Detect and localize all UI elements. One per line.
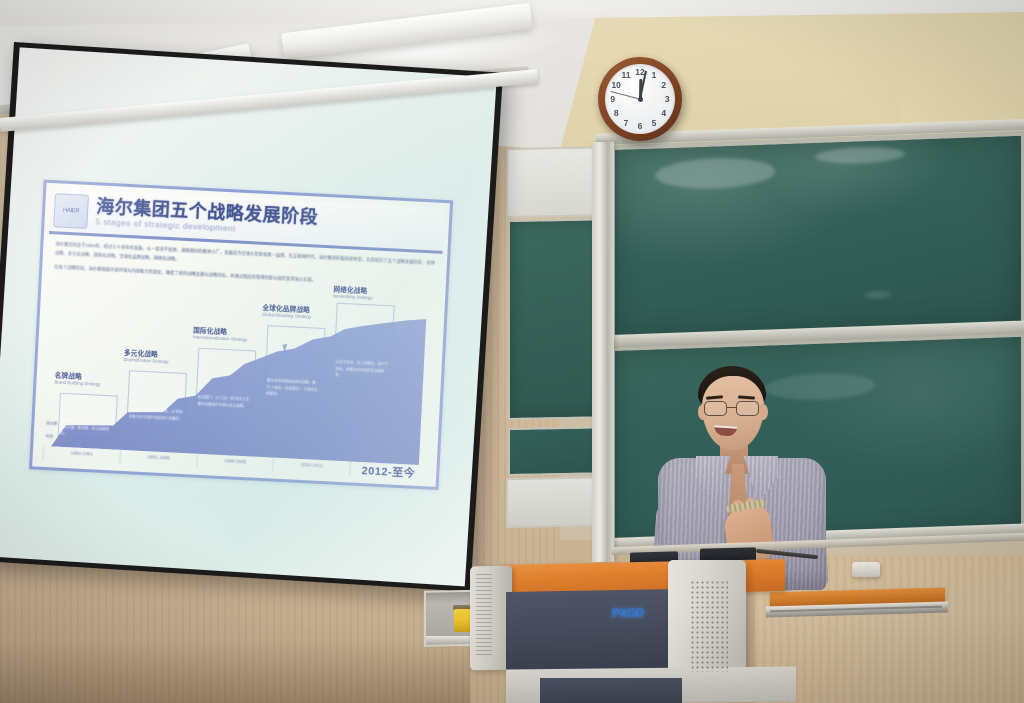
speaker-grille-icon — [690, 580, 728, 672]
stage-desc-4: 整合全球资源创全球化品牌，推行“人单合一双赢模式”，打造自主经营体。 — [266, 377, 321, 400]
glasses-lens-right — [736, 401, 759, 416]
clock-numeral-2: 2 — [658, 81, 670, 90]
stage-5-name-en: Networking Strategy — [333, 294, 373, 301]
wall-fitting — [852, 562, 880, 577]
axis-year-4: 2012-至今 — [349, 461, 426, 479]
stage-desc-1: 以质量立牌，只有一个型号产品，七年只做一款冰箱，树立品牌意识。 — [60, 417, 115, 440]
clock-center-pin — [638, 97, 643, 102]
stage-label-2: 多元化战略 Diversification Strategy — [123, 350, 169, 365]
stage-label-5: 网络化战略 Networking Strategy — [333, 286, 373, 301]
strategy-stage-chart: 名牌战略 Brand Building Strategy 多元化战略 Diver… — [42, 274, 435, 481]
stage-desc-5: 企业平台化、员工创客化、用户个性化，构建共创共赢的生态圈体系。 — [335, 358, 390, 381]
glasses-bridge — [727, 407, 736, 408]
stage-label-3: 国际化战略 Internationalization Strategy — [193, 327, 248, 343]
clock-numeral-1: 1 — [648, 71, 660, 80]
podium-base-front — [540, 678, 682, 703]
clock-numeral-7: 7 — [620, 119, 632, 128]
presentation-slide: HAIER 海尔集团五个战略发展阶段 5 stages of strategic… — [29, 180, 453, 490]
projection-screen-surface: HAIER 海尔集团五个战略发展阶段 5 stages of strategic… — [0, 47, 497, 586]
axis-year-0: 1984-1991 — [42, 446, 119, 464]
glasses-lens-left — [704, 401, 727, 416]
clock-numeral-8: 8 — [610, 109, 622, 118]
clock-numeral-10: 10 — [610, 81, 622, 90]
clock-numeral-3: 3 — [661, 95, 673, 104]
chart-plot-area: 名牌战略 Brand Building Strategy 多元化战略 Diver… — [42, 274, 435, 481]
chalk-smudge — [655, 156, 775, 190]
chalkboard-upper[interactable] — [612, 131, 1024, 343]
axis-year-2: 1998-2005 — [196, 454, 273, 472]
floor-shadow — [0, 640, 470, 703]
chalk-smudge — [865, 290, 891, 299]
stage-label-1: 名牌战略 Brand Building Strategy — [54, 372, 101, 387]
axis-year-1: 1991-1998 — [119, 450, 196, 468]
podium-brand-logo: PXGD — [612, 606, 644, 621]
podium-vent-grille — [476, 574, 492, 656]
legend-item-1: 利润 — [45, 430, 56, 443]
slide-title-group: 海尔集团五个战略发展阶段 5 stages of strategic devel… — [95, 197, 318, 237]
wall-clock: 12 1 2 3 4 5 6 7 8 9 10 11 — [598, 57, 682, 141]
legend-item-0: 营业额 — [46, 417, 57, 430]
chalkboard-vertical-rail — [592, 142, 614, 562]
classroom-scene: 12 1 2 3 4 5 6 7 8 9 10 11 — [0, 0, 1024, 703]
chart-legend: 营业额 利润 — [45, 417, 57, 442]
clock-face: 12 1 2 3 4 5 6 7 8 9 10 11 — [605, 64, 675, 134]
clock-numeral-4: 4 — [658, 109, 670, 118]
stage-label-4: 全球化品牌战略 Global Branding Strategy — [262, 305, 312, 321]
clock-numeral-11: 11 — [620, 71, 632, 80]
eyeglasses-icon — [702, 401, 764, 417]
axis-year-3: 2005-2012 — [273, 457, 350, 475]
haier-logo-icon: HAIER — [53, 193, 89, 229]
chalk-smudge — [815, 146, 905, 165]
stage-desc-3: 走出国门，以“三位一体”的本土化模式创建海外市场与自主品牌。 — [197, 394, 252, 410]
clock-numeral-9: 9 — [607, 95, 619, 104]
clock-numeral-6: 6 — [634, 122, 646, 131]
clock-numeral-5: 5 — [648, 119, 660, 128]
stage-desc-2: 从冰箱向白电全系列扩张，以“吃休克鱼”的方式进行低成本扩张兼并。 — [129, 406, 184, 422]
